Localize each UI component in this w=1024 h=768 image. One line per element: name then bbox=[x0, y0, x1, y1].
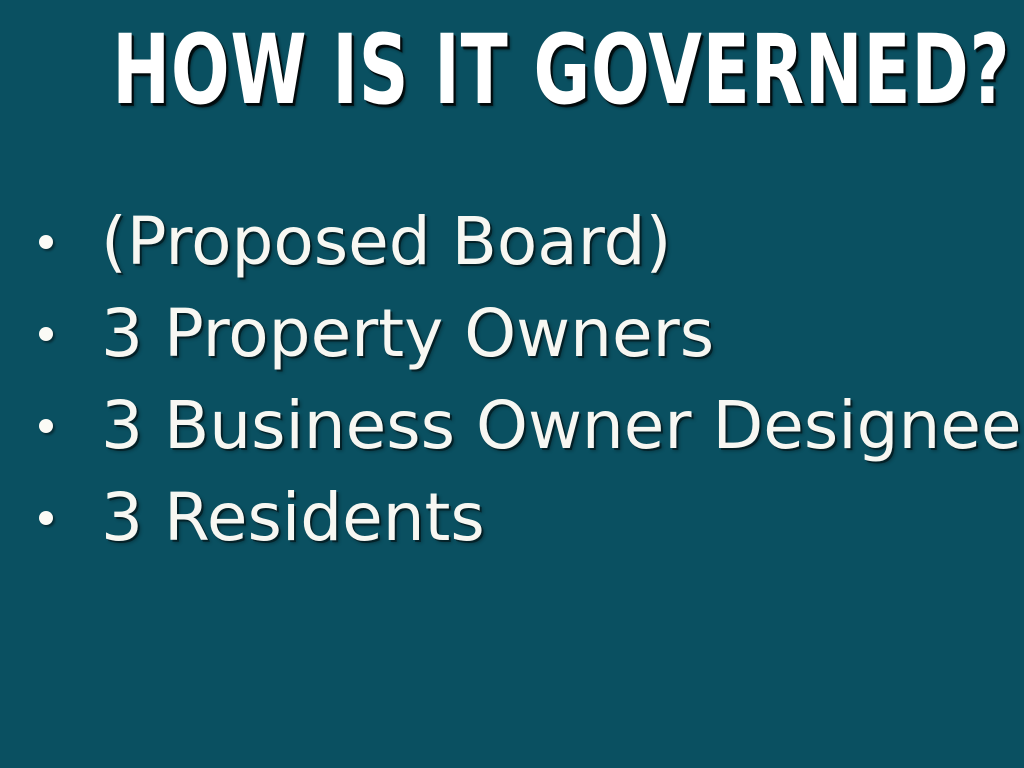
bullet-dot-icon bbox=[39, 511, 53, 525]
list-item-label: 3 Property Owners bbox=[101, 295, 714, 373]
list-item-label: 3 Residents bbox=[101, 479, 485, 557]
list-item-label: (Proposed Board) bbox=[101, 203, 671, 281]
page-title: HOW IS IT GOVERNED? bbox=[112, 18, 1010, 122]
list-item: 3 Residents bbox=[0, 472, 1024, 564]
bullet-dot-icon bbox=[39, 419, 53, 433]
list-item: 3 Business Owner Designees bbox=[0, 380, 1024, 472]
list-item-label: 3 Business Owner Designees bbox=[101, 387, 1024, 465]
bullet-dot-icon bbox=[39, 327, 53, 341]
title-block: HOW IS IT GOVERNED? bbox=[0, 18, 1024, 122]
list-item: 3 Property Owners bbox=[0, 288, 1024, 380]
presentation-slide: HOW IS IT GOVERNED? (Proposed Board) 3 P… bbox=[0, 0, 1024, 768]
bullet-list: (Proposed Board) 3 Property Owners 3 Bus… bbox=[0, 196, 1024, 564]
list-item: (Proposed Board) bbox=[0, 196, 1024, 288]
bullet-dot-icon bbox=[39, 235, 53, 249]
